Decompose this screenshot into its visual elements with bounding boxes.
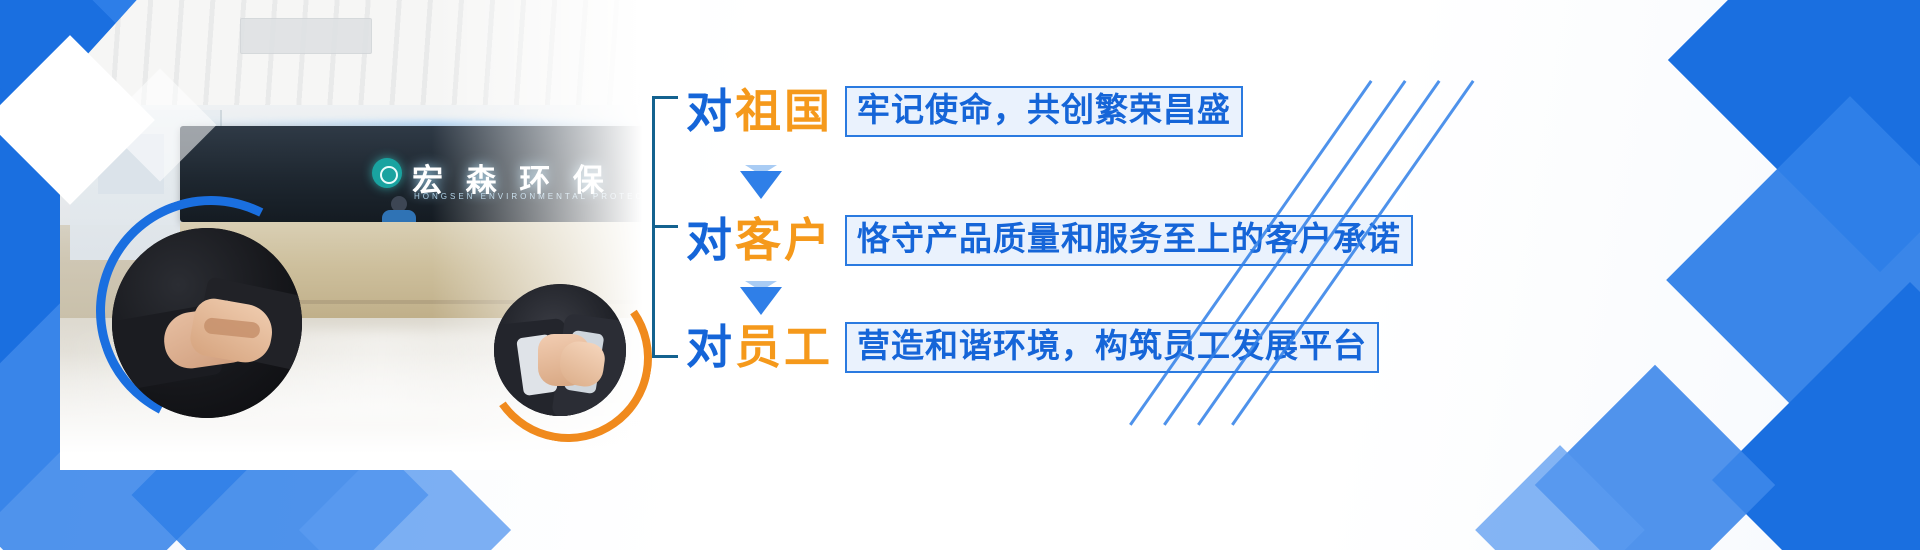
arrow-body-2 — [740, 287, 782, 315]
bracket-tree-icon — [652, 96, 676, 358]
down-triangle-icon — [740, 281, 782, 315]
handshake-circle-photo — [112, 228, 302, 418]
ceiling-panel — [240, 18, 372, 54]
bracket-branch-1 — [652, 96, 678, 99]
row-2-keyword: 客户 — [735, 217, 833, 263]
row-1-prefix: 对 — [686, 88, 733, 134]
bracket-branch-3 — [652, 355, 678, 358]
culture-row-1: 对 祖国 牢记使命，共创繁荣昌盛 — [686, 86, 1243, 137]
meeting-circle-photo — [494, 284, 626, 416]
row-3-prefix: 对 — [686, 324, 733, 370]
company-culture-banner: 宏 森 环 保 HONGSEN ENVIRONMENTAL PROTECTION — [0, 0, 1920, 550]
bracket-branch-2 — [652, 225, 678, 228]
row-1-slogan: 牢记使命，共创繁荣昌盛 — [845, 86, 1243, 137]
row-2-prefix: 对 — [686, 217, 733, 263]
row-3-keyword: 员工 — [735, 324, 833, 370]
globe-leaf-icon — [372, 158, 402, 188]
arrow-body-1 — [740, 171, 782, 199]
row-1-keyword: 祖国 — [735, 88, 833, 134]
down-triangle-icon — [740, 165, 782, 199]
